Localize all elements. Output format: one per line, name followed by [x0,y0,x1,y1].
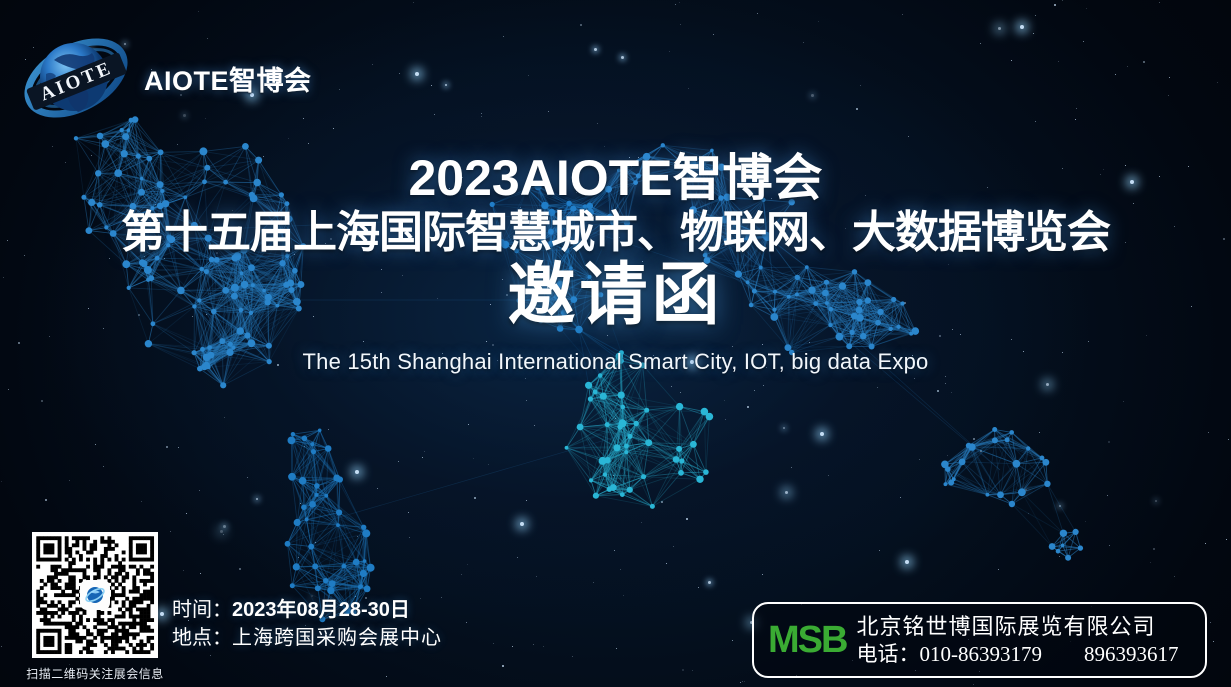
event-venue-label: 地点： [172,627,232,649]
msb-logo: MSB [768,621,846,659]
qr-caption: 扫描二维码关注展会信息 [22,665,168,682]
brand-header: AIOTE AIOTE智博会 [18,22,312,134]
event-date-value: 2023年08月28-30日 [232,599,410,621]
tel-label: 电话： [856,642,919,666]
aiote-globe-icon: AIOTE [18,22,134,134]
tel-secondary: 896393617 [1084,642,1179,666]
company-lines: 北京铭世博国际展览有限公司 电话：010-86393179896393617 [856,613,1178,666]
page-subtitle: 第十五届上海国际智慧城市、物联网、大数据博览会 [0,209,1231,257]
globe-badge-icon [80,580,110,610]
event-venue-value: 上海跨国采购会展中心 [232,627,442,649]
page-title: 2023AIOTE智博会 [0,152,1231,205]
company-telephone: 电话：010-86393179896393617 [856,641,1178,667]
qr-code-icon[interactable] [32,532,158,658]
brand-name: AIOTE智博会 [144,59,312,98]
tel-primary: 010-86393179 [919,642,1042,666]
invitation-poster: AIOTE AIOTE智博会 2023AIOTE智博会 第十五届上海国际智慧城市… [0,0,1231,687]
event-venue-row: 地点：上海跨国采购会展中心 [172,624,442,652]
invitation-word: 邀请函 [0,259,1231,332]
event-info: 时间：2023年08月28-30日 地点：上海跨国采购会展中心 [172,596,442,653]
company-card: MSB 北京铭世博国际展览有限公司 电话：010-863931798963936… [752,602,1207,678]
english-subtitle: The 15th Shanghai International Smart Ci… [0,349,1231,375]
headline-block: 2023AIOTE智博会 第十五届上海国际智慧城市、物联网、大数据博览会 邀请函… [0,152,1231,375]
event-date-label: 时间： [172,599,232,621]
qr-block: 扫描二维码关注展会信息 [22,532,168,682]
company-name: 北京铭世博国际展览有限公司 [856,613,1178,640]
event-date-row: 时间：2023年08月28-30日 [172,596,442,624]
